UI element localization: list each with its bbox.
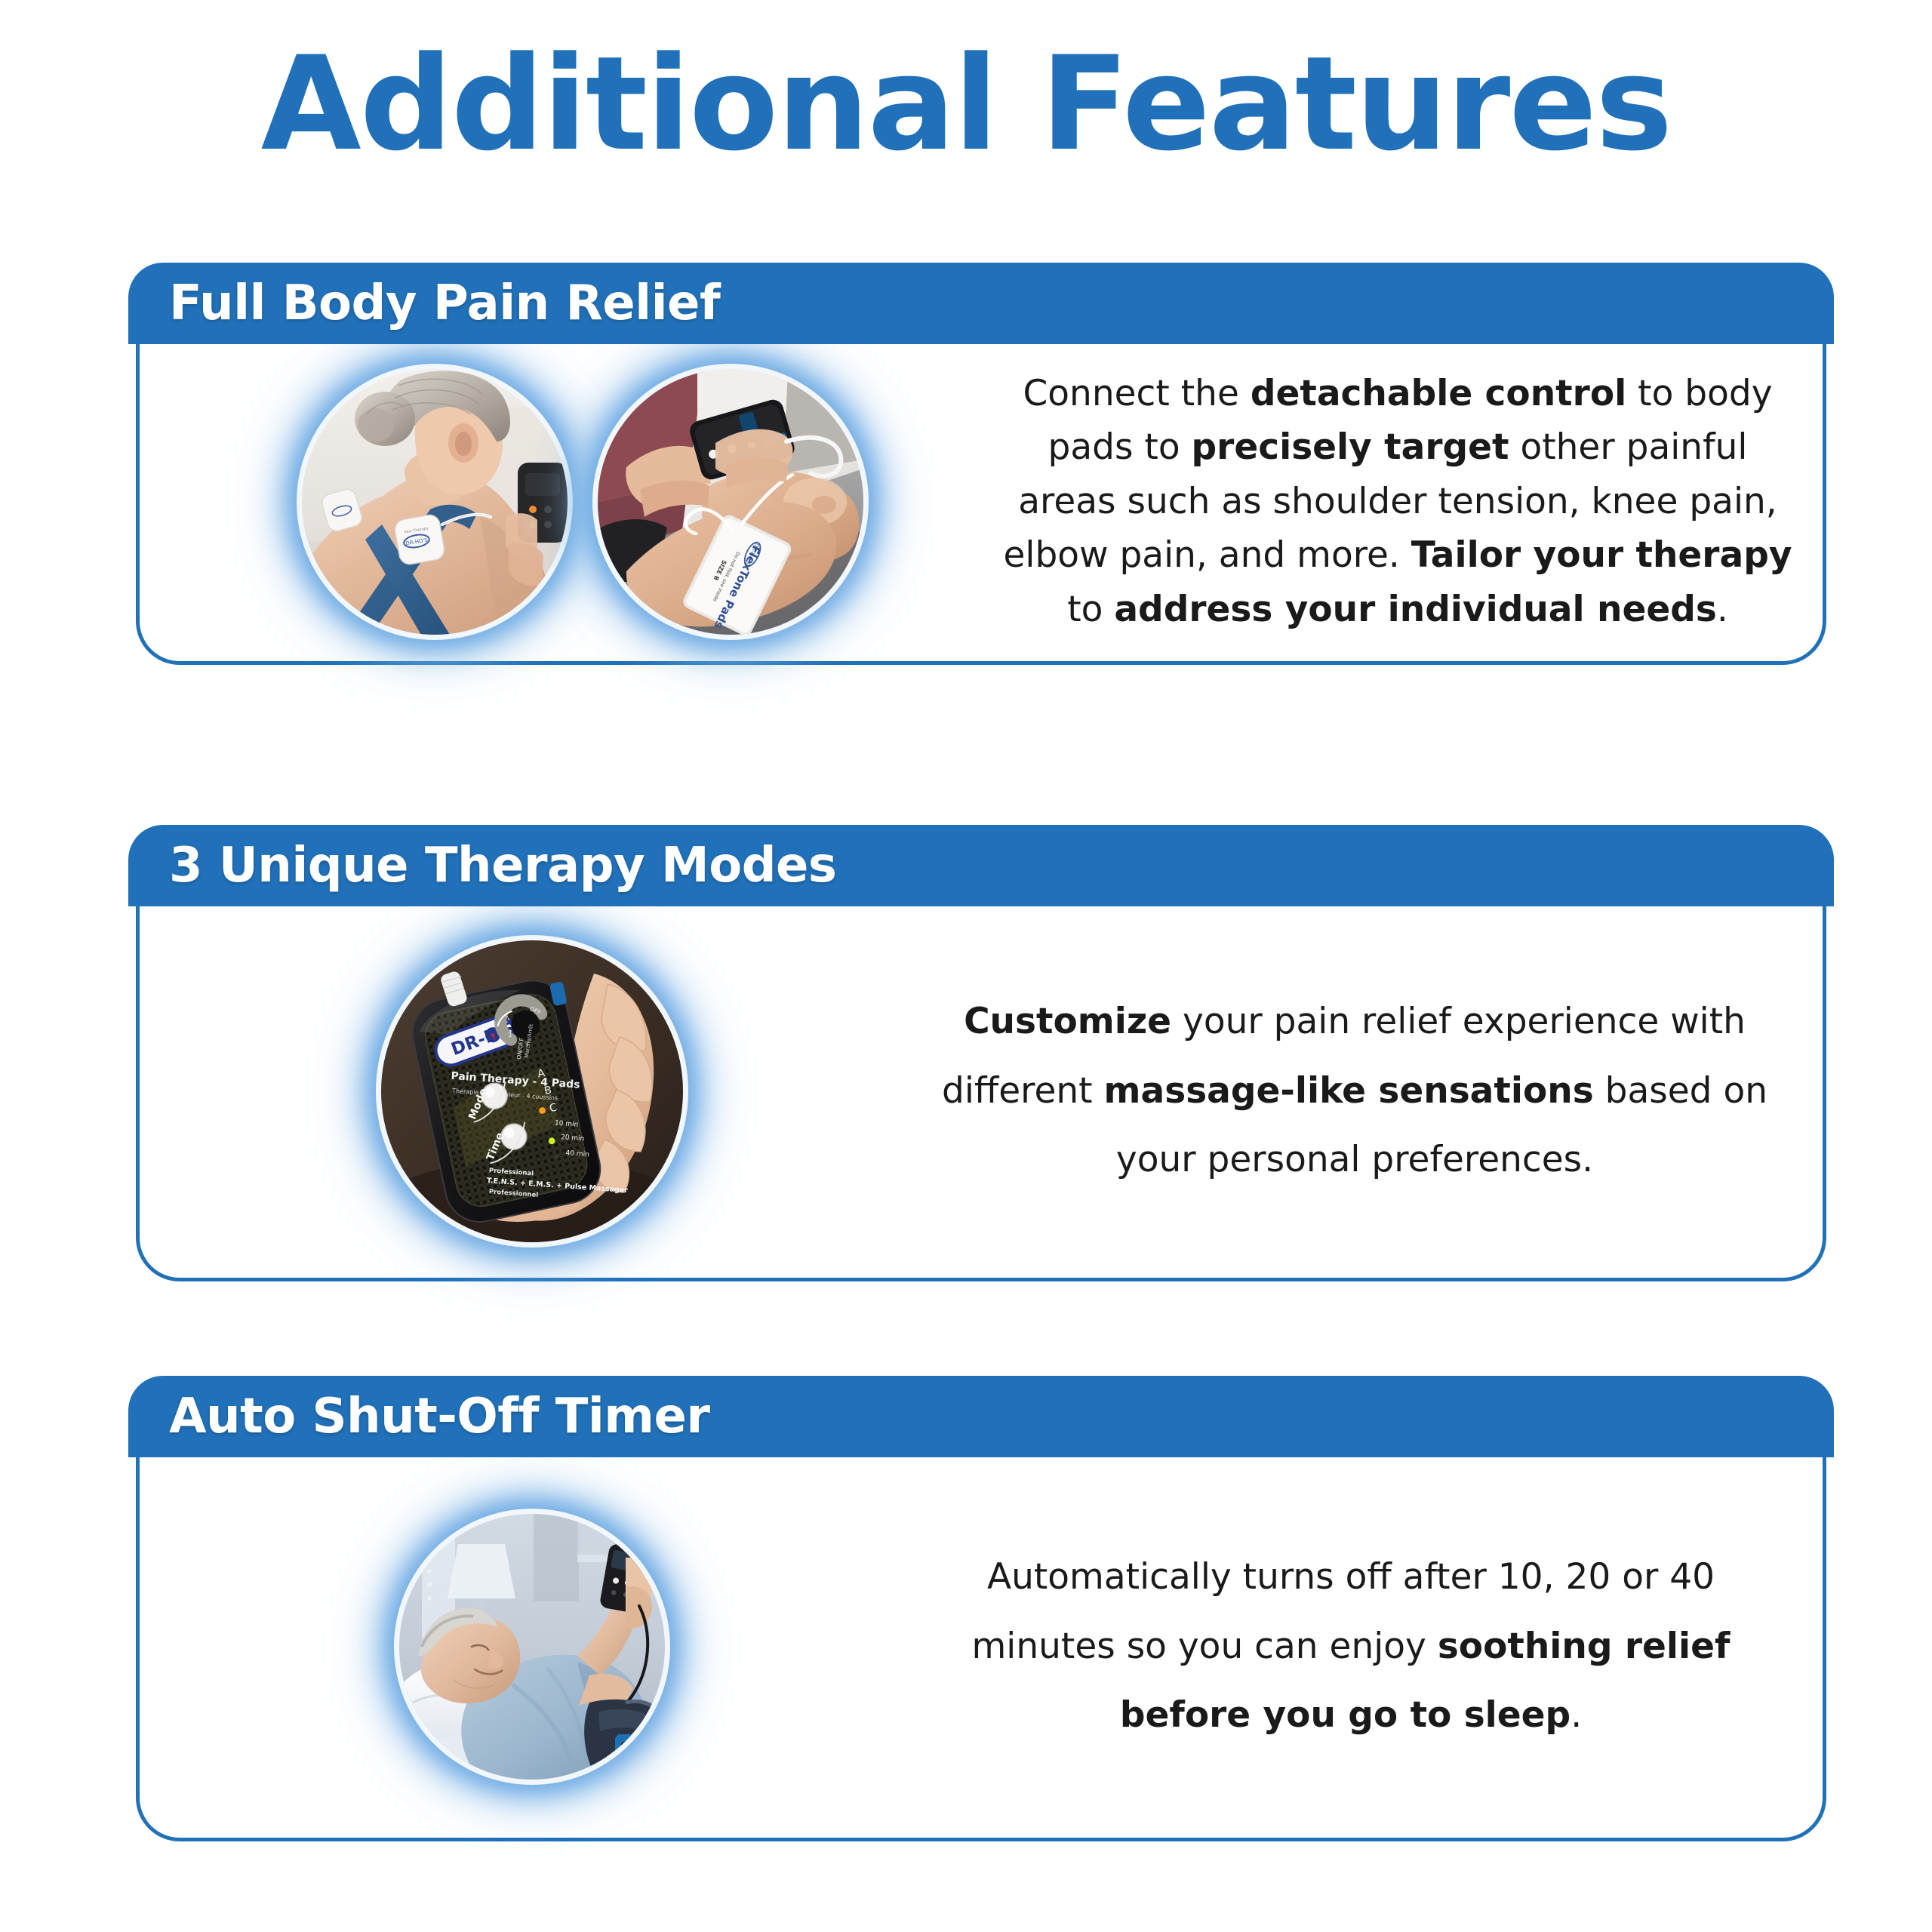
body-run-bold: Customize [964, 1001, 1171, 1042]
shoulder-pad-illustration: DR-HO'S Pain Therapy [302, 369, 568, 635]
bedtime-therapy-photo [399, 1514, 665, 1780]
body-run-bold: precisely target [1192, 426, 1509, 468]
infographic-page: Additional Features Full Body Pain Relie… [0, 0, 1932, 1932]
control-unit-photo: DR-H ✝ 'S Pain Therapy - 4 Pads Thérapie… [381, 940, 683, 1242]
media-column [140, 1514, 902, 1780]
card-body-text: Automatically turns off after 10, 20 or … [902, 1543, 1823, 1750]
body-run: . [1717, 589, 1728, 630]
control-unit-illustration: DR-H ✝ 'S Pain Therapy - 4 Pads Thérapie… [381, 940, 683, 1242]
card-header-label: 3 Unique Therapy Modes [169, 841, 837, 890]
card-body-text: Connect the detachable control to body p… [973, 367, 1823, 636]
control-unit-photo-wrap: DR-H ✝ 'S Pain Therapy - 4 Pads Thérapie… [381, 940, 683, 1242]
body-run: Connect the [1023, 373, 1250, 414]
card-header: Full Body Pain Relief [128, 263, 1834, 344]
body-run-bold: massage-like sensations [1104, 1070, 1594, 1112]
card-header: Auto Shut-Off Timer [128, 1376, 1834, 1457]
body-run-bold: detachable control [1251, 373, 1626, 414]
card-body: DR-HO'S Pain Therapy [136, 342, 1826, 665]
page-title: Additional Features [0, 39, 1932, 169]
feature-card-3-unique-therapy-modes: 3 Unique Therapy Modes [128, 825, 1834, 1281]
body-run-bold: address your individual needs [1114, 589, 1717, 630]
back-support-belt [584, 1699, 665, 1779]
feature-card-auto-shut-off-timer: Auto Shut-Off Timer [128, 1376, 1834, 1841]
card-header-label: Full Body Pain Relief [169, 279, 720, 328]
bedtime-therapy-photo-wrap [399, 1514, 665, 1780]
media-column: DR-H ✝ 'S Pain Therapy - 4 Pads Thérapie… [140, 940, 902, 1242]
feature-card-full-body-pain-relief: Full Body Pain Relief [128, 263, 1834, 665]
knee-pad-illustration: DR-HO'S FlexTone Pads Do not fold, see i… [598, 369, 863, 635]
knee-pad-photo: DR-HO'S FlexTone Pads Do not fold, see i… [598, 369, 863, 635]
card-header-label: Auto Shut-Off Timer [169, 1392, 709, 1441]
card-body: DR-H ✝ 'S Pain Therapy - 4 Pads Thérapie… [136, 904, 1826, 1281]
body-run: . [1571, 1694, 1582, 1736]
knee-pad-photo-wrap: DR-HO'S FlexTone Pads Do not fold, see i… [598, 369, 863, 635]
card-header: 3 Unique Therapy Modes [128, 825, 1834, 906]
card-body: Automatically turns off after 10, 20 or … [136, 1455, 1826, 1841]
shoulder-pad-photo: DR-HO'S Pain Therapy [302, 369, 568, 635]
body-run-bold: Tailor your therapy [1411, 534, 1792, 576]
bedtime-therapy-illustration [399, 1514, 665, 1780]
electrode-pad-shoulder: DR-HO'S Pain Therapy [393, 513, 446, 566]
shoulder-pad-photo-wrap: DR-HO'S Pain Therapy [302, 369, 568, 635]
card-body-text: Customize your pain relief experience wi… [902, 987, 1823, 1195]
body-run: to [1067, 589, 1114, 630]
media-column: DR-HO'S Pain Therapy [140, 369, 973, 635]
